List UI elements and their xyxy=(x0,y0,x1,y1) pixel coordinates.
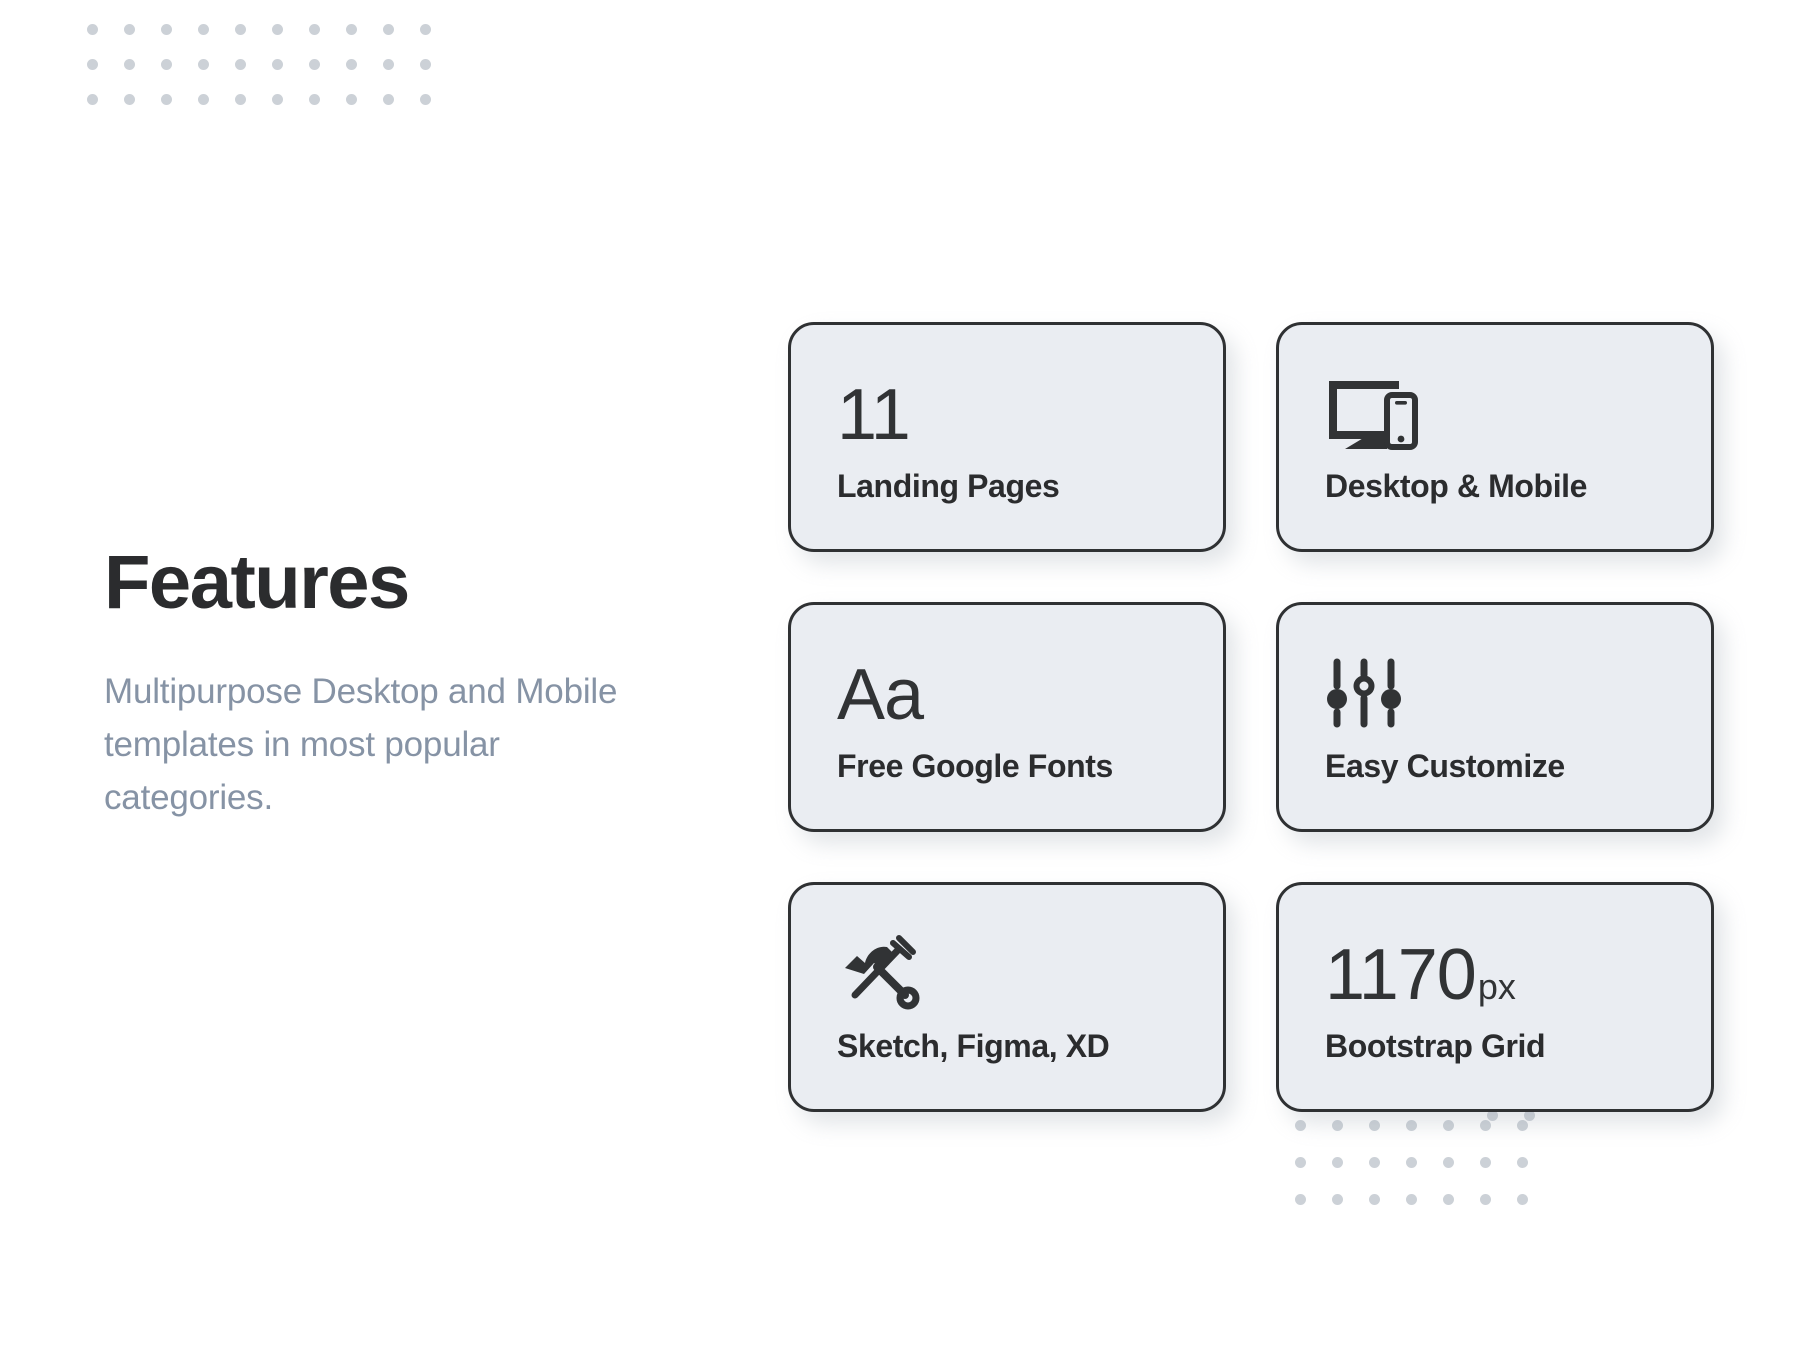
decorative-dot xyxy=(161,94,172,105)
decorative-dot xyxy=(272,94,283,105)
card-label: Free Google Fonts xyxy=(837,749,1223,784)
page-title: Features xyxy=(104,545,684,621)
decorative-dot xyxy=(383,94,394,105)
feature-card-landing-pages[interactable]: 11 Landing Pages xyxy=(788,322,1226,552)
decorative-dot xyxy=(346,94,357,105)
feature-card-google-fonts[interactable]: Aa Free Google Fonts xyxy=(788,602,1226,832)
card-number-value: 1170 xyxy=(1325,939,1476,1011)
card-label: Desktop & Mobile xyxy=(1325,469,1711,504)
desktop-mobile-icon xyxy=(1325,375,1419,456)
decorative-dot xyxy=(235,24,246,35)
feature-card-easy-customize[interactable]: Easy Customize xyxy=(1276,602,1714,832)
decorative-dot xyxy=(1480,1194,1491,1205)
card-label: Bootstrap Grid xyxy=(1325,1029,1711,1064)
decorative-dot xyxy=(309,94,320,105)
decorative-dot xyxy=(198,24,209,35)
decorative-dot xyxy=(1332,1120,1343,1131)
decorative-dot xyxy=(1295,1194,1306,1205)
card-label: Landing Pages xyxy=(837,469,1223,504)
decorative-dot xyxy=(1369,1157,1380,1168)
decorative-dot xyxy=(1517,1157,1528,1168)
decorative-dot xyxy=(1295,1157,1306,1168)
decorative-dot xyxy=(346,24,357,35)
sliders-icon xyxy=(1325,658,1403,733)
card-figure: Aa xyxy=(837,643,1223,747)
decorative-dot xyxy=(1443,1120,1454,1131)
card-number: 1170px xyxy=(1325,939,1516,1011)
feature-card-grid: 11 Landing Pages xyxy=(788,322,1714,1112)
decorative-dot xyxy=(309,24,320,35)
decorative-dot xyxy=(1480,1120,1491,1131)
decorative-dot xyxy=(1406,1194,1417,1205)
decorative-dot xyxy=(420,24,431,35)
decorative-dot xyxy=(1406,1120,1417,1131)
card-label: Sketch, Figma, XD xyxy=(837,1029,1223,1064)
decorative-dot xyxy=(124,24,135,35)
decorative-dot xyxy=(346,59,357,70)
decorative-dot xyxy=(272,59,283,70)
dot-grid-bottom-right xyxy=(1295,1120,1554,1231)
decorative-dot xyxy=(1369,1120,1380,1131)
decorative-dot xyxy=(420,94,431,105)
decorative-dot xyxy=(383,24,394,35)
card-figure: 11 xyxy=(837,363,1223,467)
decorative-dot xyxy=(124,94,135,105)
decorative-dot xyxy=(1332,1157,1343,1168)
card-number: Aa xyxy=(837,659,923,731)
decorative-dot xyxy=(87,94,98,105)
decorative-dot xyxy=(1369,1194,1380,1205)
decorative-dot xyxy=(383,59,394,70)
card-figure: 1170px xyxy=(1325,923,1711,1027)
card-figure xyxy=(837,923,1223,1027)
card-number-unit: px xyxy=(1478,969,1516,1005)
card-figure xyxy=(1325,643,1711,747)
decorative-dot xyxy=(1517,1120,1528,1131)
decorative-dot xyxy=(272,24,283,35)
decorative-dot xyxy=(1480,1157,1491,1168)
decorative-dot xyxy=(235,94,246,105)
feature-card-desktop-mobile[interactable]: Desktop & Mobile xyxy=(1276,322,1714,552)
dot-grid-top-left xyxy=(87,24,457,129)
decorative-dot xyxy=(1443,1157,1454,1168)
decorative-dot xyxy=(198,94,209,105)
decorative-dot xyxy=(198,59,209,70)
slide-canvas: Features Multipurpose Desktop and Mobile… xyxy=(0,0,1800,1360)
decorative-dot xyxy=(309,59,320,70)
decorative-dot xyxy=(420,59,431,70)
features-intro: Features Multipurpose Desktop and Mobile… xyxy=(104,545,684,825)
decorative-dot xyxy=(124,59,135,70)
card-figure xyxy=(1325,363,1711,467)
decorative-dot xyxy=(87,24,98,35)
decorative-dot xyxy=(1517,1194,1528,1205)
feature-card-bootstrap-grid[interactable]: 1170px Bootstrap Grid xyxy=(1276,882,1714,1112)
decorative-dot xyxy=(1295,1120,1306,1131)
decorative-dot xyxy=(235,59,246,70)
decorative-dot xyxy=(1332,1194,1343,1205)
decorative-dot xyxy=(1406,1157,1417,1168)
card-number: 11 xyxy=(837,379,910,451)
decorative-dot xyxy=(87,59,98,70)
decorative-dot xyxy=(161,24,172,35)
hammer-screwdriver-icon xyxy=(837,933,921,1018)
card-label: Easy Customize xyxy=(1325,749,1711,784)
decorative-dot xyxy=(1443,1194,1454,1205)
page-subtitle: Multipurpose Desktop and Mobile template… xyxy=(104,665,674,825)
feature-card-design-tools[interactable]: Sketch, Figma, XD xyxy=(788,882,1226,1112)
decorative-dot xyxy=(161,59,172,70)
